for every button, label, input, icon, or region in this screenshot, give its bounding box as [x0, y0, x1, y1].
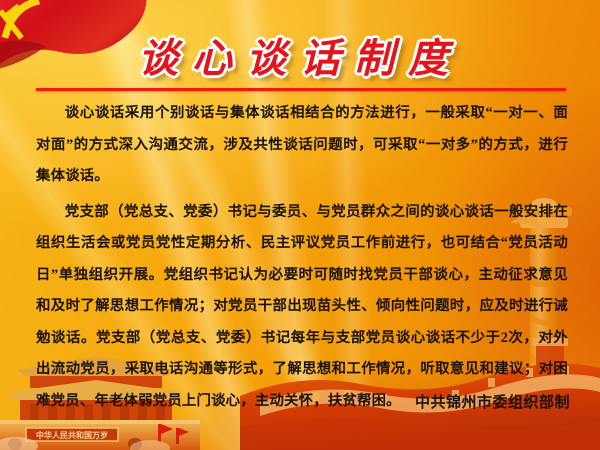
- page-title: 谈心谈话制度: [0, 26, 600, 84]
- issuer-signature: 中共锦州市委组织部制: [415, 391, 570, 412]
- title-divider: [36, 88, 566, 91]
- paragraph-2: 党支部（党总支、党委）书记与委员、与党员群众之间的谈心谈话一般安排在组织生活会或…: [36, 197, 568, 418]
- paragraph-1: 谈心谈话采用个别谈话与集体谈话相结合的方法进行，一般采取“一对一、面对面”的方式…: [36, 98, 568, 193]
- poster-root: 中华人民共和国万岁: [0, 0, 600, 450]
- body-text: 谈心谈话采用个别谈话与集体谈话相结合的方法进行，一般采取“一对一、面对面”的方式…: [36, 98, 568, 421]
